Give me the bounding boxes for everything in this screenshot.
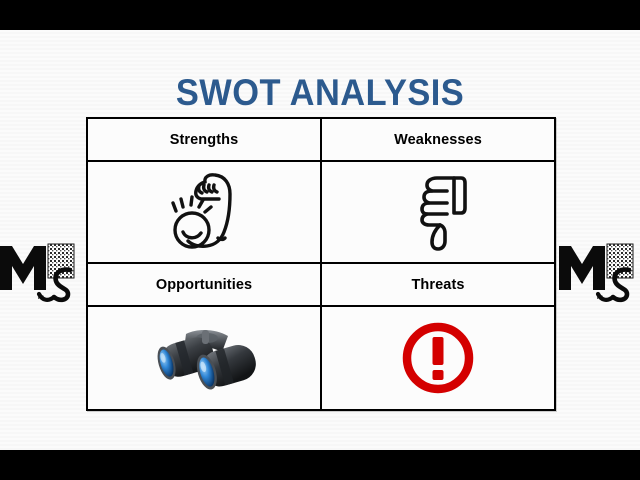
binoculars-icon	[88, 307, 320, 409]
watermark-left	[0, 228, 84, 306]
quadrant-label-opportunities: Opportunities	[87, 263, 321, 306]
slide-stage: SWOT ANALYSIS Strengths Weaknesses	[0, 0, 640, 480]
table-row-opportunities-threats-icons	[87, 306, 555, 410]
page-title: SWOT ANALYSIS	[176, 74, 464, 112]
watermark-right	[557, 228, 640, 306]
quadrant-content-weaknesses	[321, 161, 555, 263]
quadrant-label-threats: Threats	[321, 263, 555, 306]
table-row-opportunities-threats-labels: Opportunities Threats	[87, 263, 555, 306]
thumbs-down-icon	[322, 162, 554, 262]
exclamation-circle-icon	[322, 307, 554, 409]
swot-matrix: Strengths Weaknesses	[86, 117, 556, 411]
quadrant-content-threats	[321, 306, 555, 410]
slide-canvas: SWOT ANALYSIS Strengths Weaknesses	[0, 30, 640, 450]
quadrant-content-strengths	[87, 161, 321, 263]
quadrant-label-strengths: Strengths	[87, 118, 321, 161]
title-block: SWOT ANALYSIS	[0, 74, 640, 112]
table-row-strengths-weaknesses-labels: Strengths Weaknesses	[87, 118, 555, 161]
letterbox-top	[0, 0, 640, 30]
quadrant-label-weaknesses: Weaknesses	[321, 118, 555, 161]
quadrant-content-opportunities	[87, 306, 321, 410]
flexed-biceps-icon	[88, 162, 320, 262]
letterbox-bottom	[0, 450, 640, 480]
table-row-strengths-weaknesses-icons	[87, 161, 555, 263]
